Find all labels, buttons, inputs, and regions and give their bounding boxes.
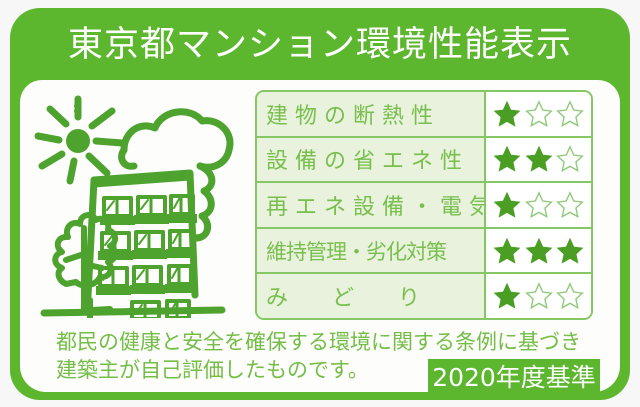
table-row: 建 物 の 断 熱 性 — [257, 92, 591, 138]
star-filled-icon — [493, 191, 521, 219]
rating-table: 建 物 の 断 熱 性 設 備 の 省 エ ネ 性 再 エ ネ 設 備 ・ 電 … — [255, 90, 593, 320]
star-empty-icon — [525, 191, 553, 219]
table-row: 再 エ ネ 設 備 ・ 電 気 — [257, 183, 591, 229]
star-empty-icon — [556, 145, 584, 173]
ground-line — [44, 310, 222, 313]
rating-label-renewable-energy: 再 エ ネ 設 備 ・ 電 気 — [257, 183, 486, 227]
rating-stars-maintenance — [486, 229, 591, 273]
rating-stars-energy-saving — [486, 138, 591, 182]
rating-stars-renewable-energy — [486, 183, 591, 227]
tree-icon — [55, 215, 115, 310]
star-filled-icon — [525, 145, 553, 173]
rating-label-greenery: み ど り — [257, 274, 486, 318]
star-empty-icon — [556, 100, 584, 128]
star-empty-icon — [556, 191, 584, 219]
footer-line-1: 都民の健康と安全を確保する環境に関する条例に基づき — [56, 328, 581, 356]
star-empty-icon — [556, 282, 584, 310]
rating-label-energy-saving: 設 備 の 省 エ ネ 性 — [257, 138, 486, 182]
environmental-performance-label: 東京都マンション環境性能表示 — [0, 0, 640, 407]
star-empty-icon — [525, 282, 553, 310]
year-standard-badge: 2020年度基準 — [428, 359, 600, 392]
star-filled-icon — [493, 282, 521, 310]
star-filled-icon — [493, 237, 521, 265]
table-row: 設 備 の 省 エ ネ 性 — [257, 138, 591, 184]
page-title: 東京都マンション環境性能表示 — [68, 28, 572, 63]
table-row: 維持管理・劣化対策 — [257, 229, 591, 275]
star-filled-icon — [556, 237, 584, 265]
rating-stars-greenery — [486, 274, 591, 318]
sun-core — [66, 129, 90, 153]
star-filled-icon — [493, 145, 521, 173]
eco-building-illustration — [22, 88, 247, 318]
table-row: み ど り — [257, 274, 591, 318]
star-empty-icon — [525, 100, 553, 128]
label-header: 東京都マンション環境性能表示 — [10, 8, 630, 82]
rating-label-maintenance: 維持管理・劣化対策 — [257, 229, 486, 273]
rating-label-insulation: 建 物 の 断 熱 性 — [257, 92, 486, 136]
star-filled-icon — [525, 237, 553, 265]
star-filled-icon — [493, 100, 521, 128]
rating-stars-insulation — [486, 92, 591, 136]
